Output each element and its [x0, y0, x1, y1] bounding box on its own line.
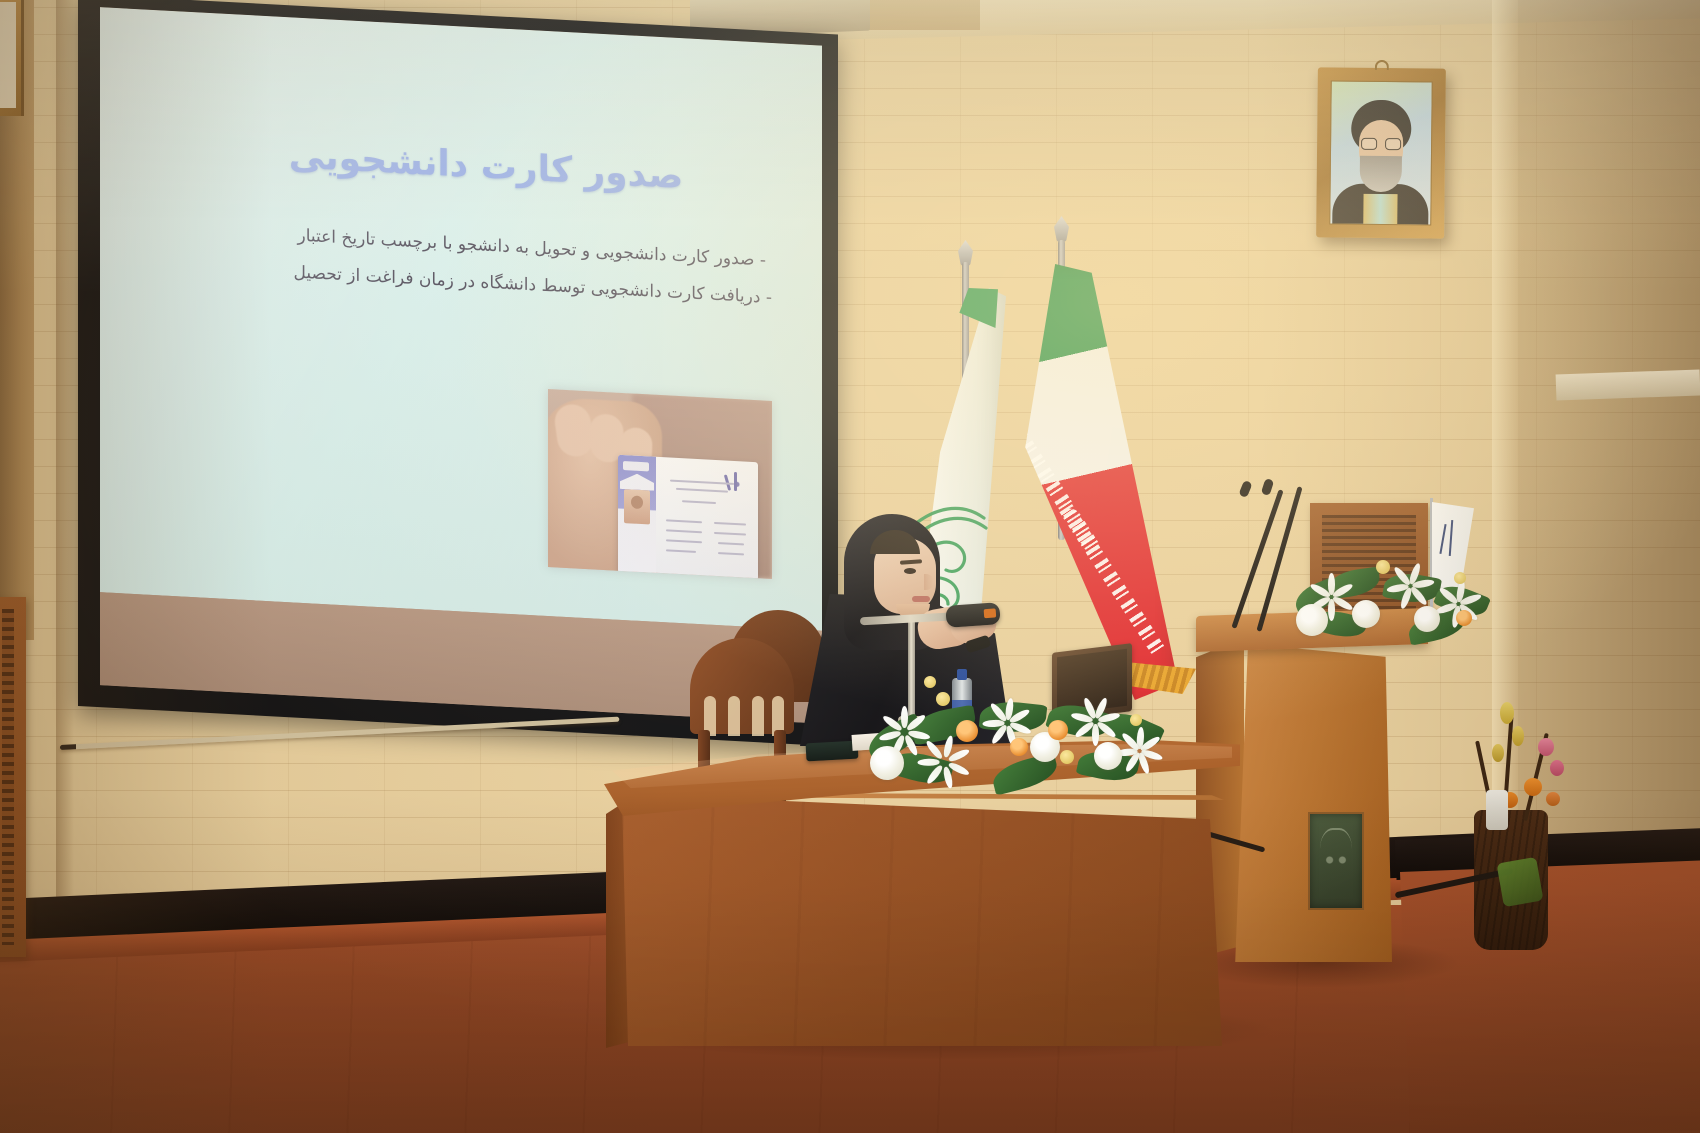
- id-card-line: [666, 519, 702, 523]
- rose-flower: [1414, 606, 1440, 632]
- lily-flower: [1116, 728, 1162, 774]
- portrait-canvas: [1329, 80, 1433, 225]
- floor-vase-arrangement: [1452, 700, 1570, 950]
- orange-rose: [1048, 720, 1068, 740]
- presentation-slide: صدور کارت دانشجویی - صدور کارت دانشجویی …: [100, 7, 822, 630]
- rose-flower: [870, 746, 904, 780]
- portrait-glasses: [1361, 138, 1401, 150]
- orange-rose: [956, 720, 978, 742]
- presenter-eye: [904, 568, 916, 574]
- yellow-bud: [936, 692, 950, 706]
- id-card-line: [718, 542, 744, 545]
- id-card-line: [714, 532, 746, 536]
- id-card-logo: [623, 461, 649, 471]
- student-id-card: [618, 455, 758, 579]
- dry-bloom: [1492, 744, 1504, 762]
- lecture-hall-photo: صدور کارت دانشجویی - صدور کارت دانشجویی …: [0, 0, 1700, 1133]
- rose-flower: [1352, 600, 1380, 628]
- vent-louvers: [2, 609, 14, 945]
- orange-bloom: [1546, 792, 1560, 806]
- id-card-photo: [624, 489, 650, 524]
- yellow-bud: [1454, 572, 1466, 584]
- lily-flower: [916, 734, 972, 790]
- wall-vent-left: [0, 597, 26, 957]
- podium-bouquet: [1288, 548, 1496, 656]
- id-card-line: [682, 500, 716, 504]
- projector-screen: صدور کارت دانشجویی - صدور کارت دانشجویی …: [78, 0, 838, 746]
- id-card-line: [718, 552, 744, 555]
- lectern-decorative-plate: [1308, 812, 1364, 910]
- lily-flower: [1388, 564, 1432, 608]
- mobile-phone: [806, 741, 859, 762]
- slide-bullet-list: - صدور کارت دانشجویی و تحویل به دانشجو ب…: [132, 209, 772, 316]
- table-microphone: [945, 602, 1000, 628]
- orange-rose: [1010, 738, 1028, 756]
- ceiling-beam: [860, 0, 980, 30]
- id-card-line: [714, 522, 746, 526]
- dry-bloom: [1500, 702, 1514, 724]
- iran-emblem-icon: [1060, 472, 1127, 536]
- id-card-line: [666, 529, 702, 533]
- slide-photo-id-card: [548, 389, 772, 579]
- orange-bloom: [1524, 778, 1542, 796]
- slide-title: صدور کارت دانشجویی: [206, 131, 766, 202]
- pink-bloom: [1550, 760, 1564, 776]
- yellow-bud: [924, 676, 936, 688]
- desk-bouquet: [862, 676, 1162, 800]
- left-picture-frame-edge: [0, 0, 24, 116]
- yellow-bud: [1376, 560, 1390, 574]
- floor-white-object: [1486, 790, 1508, 830]
- lily-flower: [1070, 696, 1120, 746]
- framed-leader-portrait: [1316, 67, 1446, 238]
- rose-flower: [1094, 742, 1122, 770]
- id-card-line: [676, 488, 728, 493]
- presenter-lips: [912, 596, 930, 602]
- lectern-front: [1232, 644, 1392, 962]
- frame-hook: [1375, 60, 1389, 70]
- portrait-scarf: [1363, 194, 1397, 224]
- yellow-bud: [1060, 750, 1074, 764]
- left-wall-edge: [56, 0, 74, 980]
- pink-bloom: [1538, 738, 1554, 756]
- orange-bud: [1456, 610, 1472, 626]
- id-card-line: [666, 539, 702, 543]
- dry-bloom: [1512, 726, 1524, 746]
- floor-green-object: [1496, 857, 1543, 907]
- id-card-line: [666, 549, 696, 553]
- right-wall-panel: [1556, 369, 1700, 400]
- screen-surface: صدور کارت دانشجویی - صدور کارت دانشجویی …: [100, 7, 822, 723]
- yellow-bud: [1130, 714, 1142, 726]
- desk-front-panel: [622, 794, 1222, 1046]
- rose-flower: [1296, 604, 1328, 636]
- iran-national-flag: [1012, 228, 1182, 698]
